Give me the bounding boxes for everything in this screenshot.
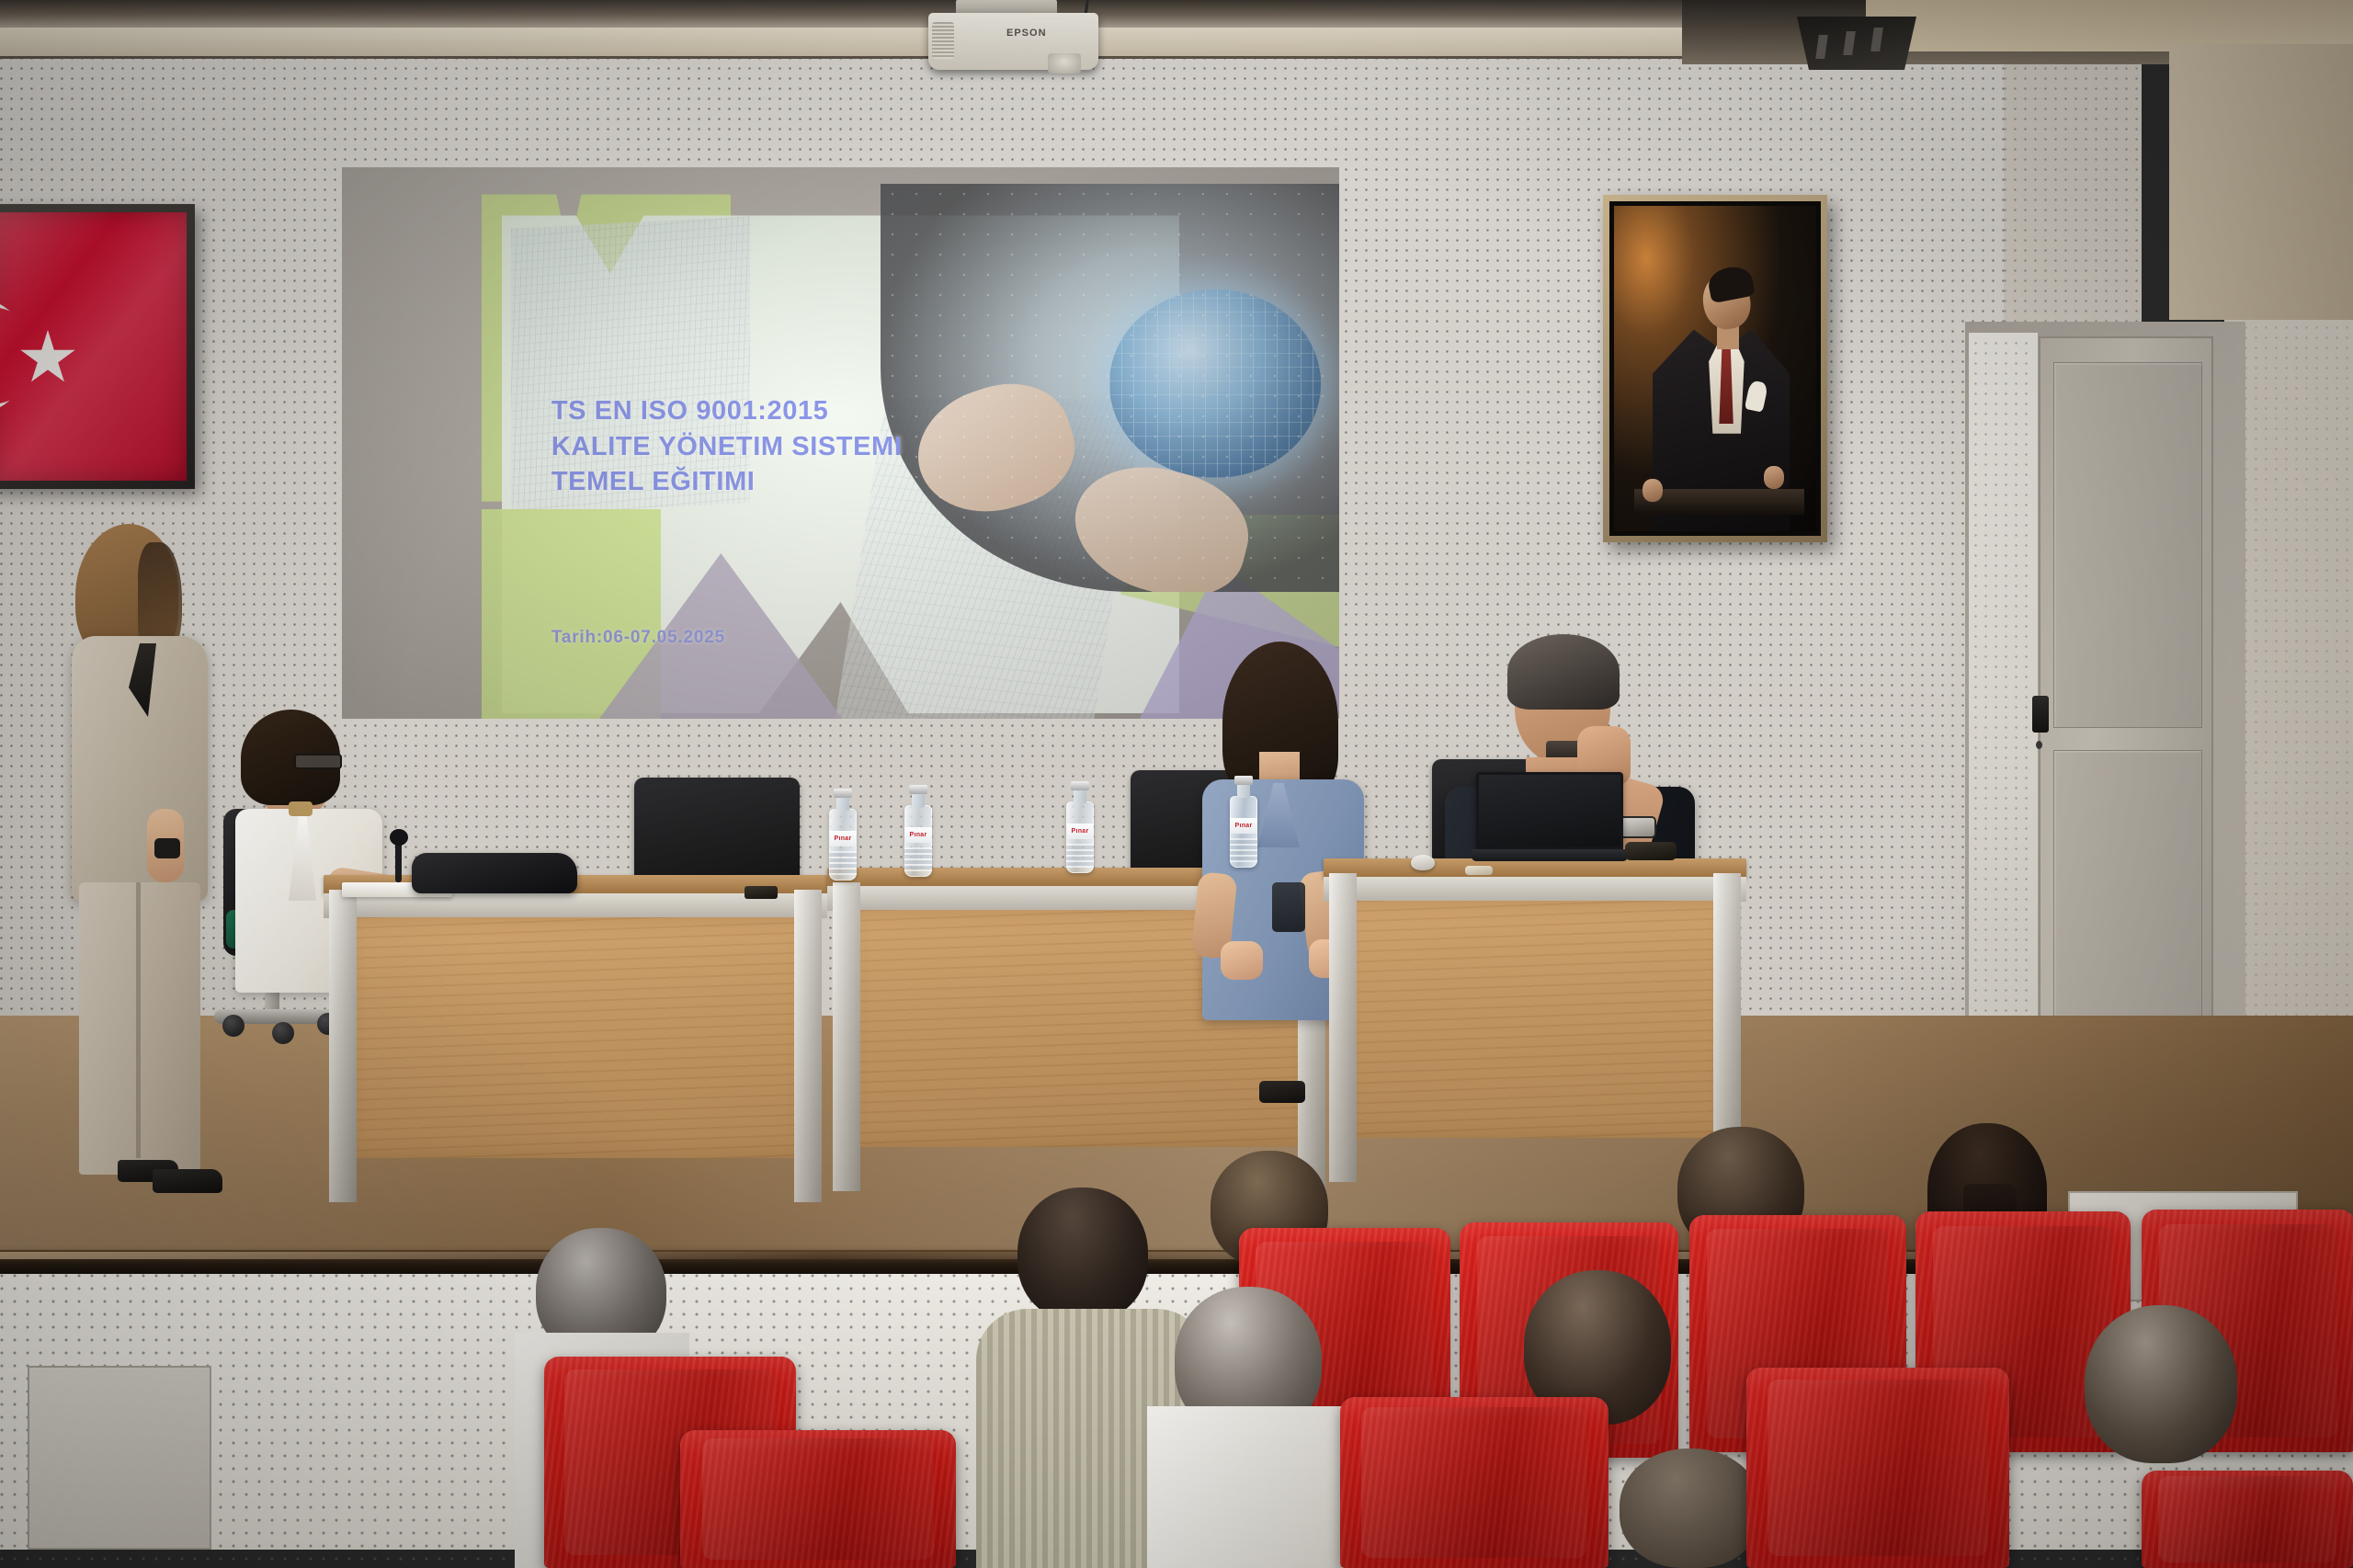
access-hatch[interactable] <box>28 1366 211 1550</box>
door-sidelight-perforation <box>1974 342 2031 1048</box>
table-top-right <box>1324 858 1746 879</box>
laptop-screen[interactable] <box>1476 772 1623 849</box>
phone-left-table[interactable] <box>745 886 778 899</box>
table-modesty-panel-left <box>344 917 807 1158</box>
speaker-grille-icon <box>1870 28 1883 51</box>
eyeglasses-icon <box>294 754 342 769</box>
phone-right-table[interactable] <box>1625 842 1677 860</box>
audience-body <box>1147 1406 1355 1568</box>
slide-date: Tarih:06-07.05.2025 <box>551 628 725 648</box>
portrait-hand-left <box>1643 479 1663 502</box>
table-leg-left <box>833 882 860 1191</box>
ceiling-wood-corner <box>2169 44 2353 320</box>
water-bottle[interactable]: Pınar <box>1066 801 1094 873</box>
table-leg-left <box>1329 873 1357 1182</box>
chair-wheel-icon <box>272 1022 294 1044</box>
projection-screen: TS EN ISO 9001:2015 KALITE YÖNETIM SISTE… <box>342 167 1339 719</box>
bottle-cap-icon <box>909 785 927 794</box>
audience-head <box>1017 1187 1148 1322</box>
slide-title: TS EN ISO 9001:2015 KALITE YÖNETIM SISTE… <box>551 393 903 500</box>
table-rail-right <box>1324 877 1746 902</box>
speaker-grille-icon <box>1815 35 1828 59</box>
panelist-center-shoe <box>1259 1081 1305 1103</box>
water-bottle[interactable]: Pınar <box>829 809 857 881</box>
slide-title-line3: TEMEL EĞITIMI <box>551 464 903 500</box>
mouse[interactable] <box>1411 855 1435 870</box>
atatürk-portrait-frame <box>1603 195 1827 542</box>
presenter-trouser-crease <box>136 882 141 1158</box>
speaker-grille-icon <box>1843 31 1856 55</box>
bottle-label: Pınar <box>829 831 857 846</box>
flag-sheen <box>0 212 187 481</box>
lanyard-glasses <box>1272 882 1305 932</box>
small-object-right-table[interactable] <box>1465 866 1493 875</box>
water-bottle[interactable]: Pınar <box>904 805 932 877</box>
door-handle[interactable] <box>2032 696 2049 733</box>
audience-seat[interactable] <box>1340 1397 1608 1568</box>
table-leg-right <box>794 890 822 1202</box>
door-lower-panel <box>2053 750 2202 1035</box>
bottle-cap-icon <box>834 789 852 798</box>
turkish-flag <box>0 212 187 481</box>
table-leg-left <box>329 890 357 1202</box>
audience-seat[interactable] <box>680 1430 956 1568</box>
auditorium-photo: EPSON <box>0 0 2353 1568</box>
bottle-cap-icon <box>1234 776 1253 785</box>
table-modesty-panel-right <box>1340 901 1729 1138</box>
door[interactable] <box>2039 336 2213 1061</box>
audience-head <box>2085 1305 2237 1463</box>
slide-title-line2: KALITE YÖNETIM SISTEMI <box>551 429 903 465</box>
projector-lens-icon <box>1048 53 1081 74</box>
ceiling-speaker <box>1797 17 1916 70</box>
audience-seat[interactable] <box>1746 1368 2009 1568</box>
door-upper-panel <box>2053 362 2202 728</box>
bottle-label: Pınar <box>904 827 932 843</box>
audience-head <box>1620 1449 1761 1568</box>
door-lock-icon[interactable] <box>2036 741 2042 749</box>
bottle-label: Pınar <box>1066 824 1094 839</box>
slide: TS EN ISO 9001:2015 KALITE YÖNETIM SISTE… <box>342 167 1339 719</box>
audience-seat[interactable] <box>2142 1471 2353 1568</box>
turkish-flag-frame <box>0 204 195 489</box>
portrait-image <box>1614 206 1816 531</box>
chair-wheel-icon <box>222 1015 244 1037</box>
presenter-shoe-right <box>153 1169 222 1193</box>
panelist-center-hand-left <box>1221 941 1263 980</box>
microphone-head-icon[interactable] <box>390 829 408 846</box>
projector-brand-label: EPSON <box>1006 28 1047 39</box>
panel-table-left <box>324 875 827 1206</box>
bag-left[interactable] <box>412 853 577 893</box>
slide-title-line1: TS EN ISO 9001:2015 <box>551 393 903 429</box>
network-dots <box>881 184 1339 592</box>
bottle-label: Pınar <box>1230 818 1257 834</box>
bottle-cap-icon <box>1071 781 1089 790</box>
panel-table-right <box>1324 858 1746 1186</box>
panel-chair[interactable] <box>634 778 800 888</box>
portrait-mat <box>1609 201 1821 536</box>
water-bottle[interactable]: Pınar <box>1230 796 1257 868</box>
projector-vent-icon <box>932 22 954 59</box>
laptop-base[interactable] <box>1472 849 1628 861</box>
portrait-hand-right <box>1764 466 1784 489</box>
slide-photo <box>881 184 1339 592</box>
panelist-right-hair <box>1507 634 1620 710</box>
necklace-icon <box>289 801 313 816</box>
presenter-clicker[interactable] <box>154 838 180 858</box>
microphone-stand[interactable] <box>395 842 402 882</box>
